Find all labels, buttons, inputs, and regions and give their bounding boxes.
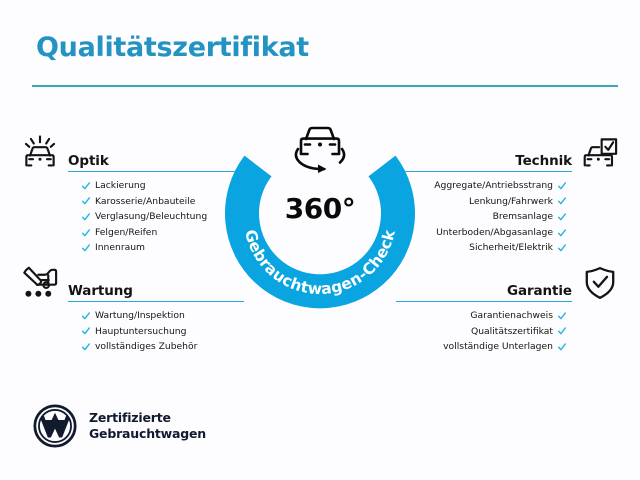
check-icon [82,343,90,351]
list-item-label: Aggregate/Antriebsstrang [434,178,553,194]
section-divider-optik [68,171,244,173]
list-item-label: vollständiges Zubehör [95,339,197,355]
quality-certificate-page: Qualitätszertifikat [0,0,640,480]
list-item-label: Sicherheit/Elektrik [469,240,553,256]
check-icon [558,312,566,320]
list-item: vollständiges Zubehör [20,339,260,355]
check-icon [82,312,90,320]
car-wrench-icon [20,264,60,302]
car-rotate-icon [284,122,356,178]
check-icon [558,343,566,351]
check-icon [558,213,566,221]
list-item-label: Innenraum [95,240,145,256]
shield-check-icon [580,264,620,302]
list-item-label: Garantienachweis [470,308,553,324]
360-check-badge: Gebrauchtwagen-Check 360° [222,120,418,316]
check-icon [558,327,566,335]
badge-center-value: 360° [222,192,418,225]
list-item-label: Qualitätszertifikat [471,324,553,340]
vw-certified-footer: Zertifizierte Gebrauchtwagen [33,404,206,448]
vw-logo-icon [33,404,77,448]
list-item-label: Wartung/Inspektion [95,308,185,324]
list-item-label: Felgen/Reifen [95,225,157,241]
section-divider-technik [396,171,572,173]
list-item-label: Lenkung/Fahrwerk [469,194,553,210]
list-item: Hauptuntersuchung [20,324,260,340]
check-icon [558,244,566,252]
list-item-label: Verglasung/Beleuchtung [95,209,207,225]
section-divider-garantie [396,301,572,303]
list-item-label: Unterboden/Abgasanlage [436,225,553,241]
check-icon [82,244,90,252]
list-item-label: Bremsanlage [493,209,553,225]
check-icon [82,213,90,221]
rotate-arrowhead [318,165,327,174]
page-title: Qualitätszertifikat [36,32,309,63]
list-item-label: Hauptuntersuchung [95,324,186,340]
car-checkbox-icon [580,134,620,172]
vw-certified-text: Zertifizierte Gebrauchtwagen [89,410,206,442]
title-divider [32,85,618,87]
check-icon [558,229,566,237]
check-icon [82,229,90,237]
vw-text-line-1: Zertifizierte [89,410,206,426]
check-icon [558,182,566,190]
car-shine-icon [20,134,60,172]
list-item-label: Karosserie/Anbauteile [95,194,195,210]
check-icon [558,197,566,205]
check-icon [82,327,90,335]
list-item: vollständige Unterlagen [380,339,620,355]
list-item: Qualitätszertifikat [380,324,620,340]
check-icon [82,197,90,205]
vw-text-line-2: Gebrauchtwagen [89,426,206,442]
list-item-label: vollständige Unterlagen [443,339,553,355]
check-icon [82,182,90,190]
section-divider-wartung [68,301,244,303]
list-item-label: Lackierung [95,178,146,194]
